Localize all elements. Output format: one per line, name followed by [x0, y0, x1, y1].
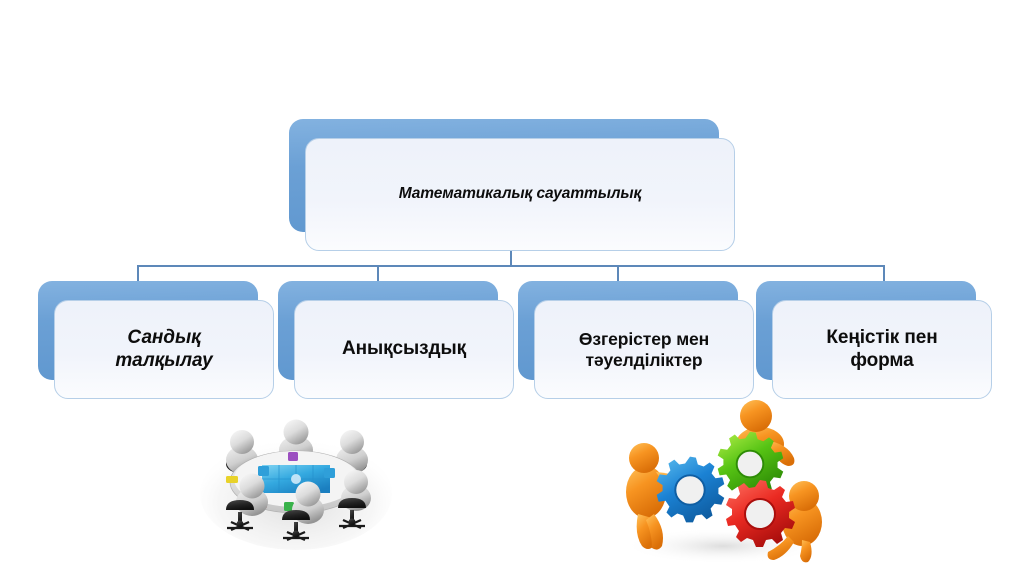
node-label: Математикалық сауаттылық — [389, 185, 652, 203]
node-panel: Сандық талқылау — [54, 300, 274, 399]
node-child-numeric-discussion[interactable]: Сандық талқылау — [38, 281, 274, 399]
node-child-space-and-form[interactable]: Кеңістік пен форма — [756, 281, 992, 399]
node-child-changes-and-dependencies[interactable]: Өзгерістер мен тәуелділіктер — [518, 281, 754, 399]
connector-horizontal-bus — [137, 265, 884, 267]
node-panel: Өзгерістер мен тәуелділіктер — [534, 300, 754, 399]
node-label: Анықсыздық — [332, 338, 476, 360]
node-label: Сандық талқылау — [105, 327, 222, 372]
node-panel: Анықсыздық — [294, 300, 514, 399]
node-panel: Кеңістік пен форма — [772, 300, 992, 399]
node-child-uncertainty[interactable]: Анықсыздық — [278, 281, 514, 399]
teamwork-gears-image — [608, 396, 838, 568]
team-meeting-puzzle-image — [196, 406, 396, 554]
diagram-canvas: Математикалық сауаттылық Сандық талқылау… — [0, 0, 1024, 576]
node-label: Кеңістік пен форма — [816, 327, 947, 372]
node-panel: Математикалық сауаттылық — [305, 138, 735, 251]
node-root-mathematical-literacy[interactable]: Математикалық сауаттылық — [289, 119, 735, 251]
node-label: Өзгерістер мен тәуелділіктер — [569, 329, 719, 370]
